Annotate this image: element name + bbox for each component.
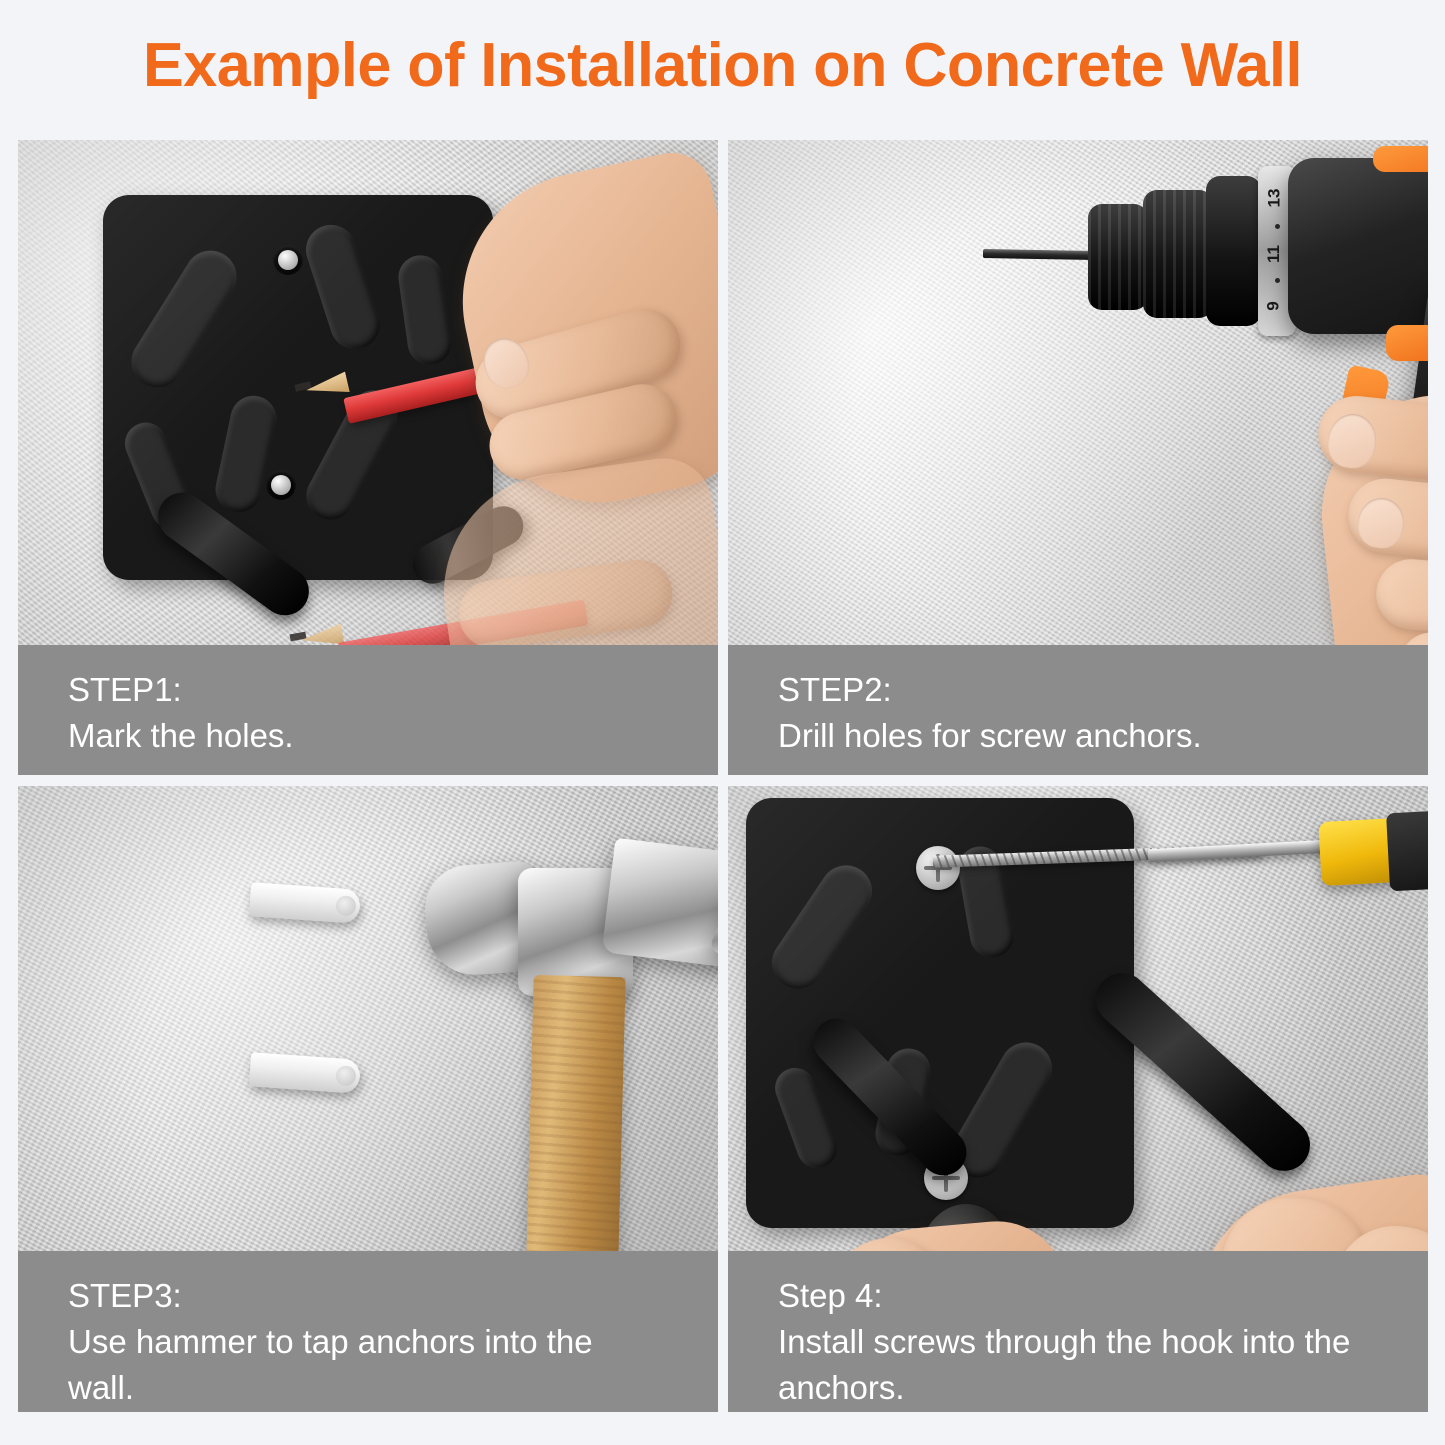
drill-chuck: [1088, 204, 1148, 310]
clutch-number-11: 11: [1264, 245, 1284, 263]
step-panel-3: STEP3: Use hammer to tap anchors into th…: [18, 786, 718, 1412]
hole-marker: [278, 250, 298, 270]
steps-grid: STEP1: Mark the holes. 13 11: [18, 140, 1428, 1412]
step-label: STEP2:: [778, 667, 1428, 713]
chuck-ribs: [1088, 204, 1148, 310]
step-panel-2: 13 11 9 STEP2: Drill holes for scre: [728, 140, 1428, 775]
step-text: Install screws through the hook into the…: [778, 1319, 1368, 1411]
drill-body: [1288, 158, 1428, 334]
page-title: Example of Installation on Concrete Wall: [11, 30, 1434, 101]
screw-head-top: [916, 846, 960, 890]
drill-top-accent: [1373, 146, 1428, 172]
hook-bump: [122, 241, 247, 397]
drill-speed-button: [1386, 325, 1428, 361]
screwdriver-handle: [1386, 807, 1428, 892]
hook-bump: [762, 855, 882, 998]
step-label: STEP3:: [68, 1273, 718, 1319]
step-label: STEP1:: [68, 667, 718, 713]
step-caption-3: STEP3: Use hammer to tap anchors into th…: [18, 1251, 718, 1412]
mounting-hole-top: [273, 245, 303, 275]
step-text: Use hammer to tap anchors into the wall.: [68, 1319, 658, 1411]
mounting-hole-bottom: [266, 470, 296, 500]
step-caption-2: STEP2: Drill holes for screw anchors.: [728, 645, 1428, 775]
step-label: Step 4:: [778, 1273, 1428, 1319]
clutch-dot: [1275, 278, 1280, 283]
drill-collar: [1143, 190, 1213, 318]
installation-guide-page: Example of Installation on Concrete Wall: [0, 0, 1445, 1445]
hook-bump: [769, 1062, 842, 1173]
step-text: Drill holes for screw anchors.: [778, 713, 1368, 759]
hook-bump: [211, 392, 281, 517]
hole-marker: [271, 475, 291, 495]
step-text: Mark the holes.: [68, 713, 658, 759]
clutch-number-9: 9: [1264, 301, 1284, 310]
step-caption-1: STEP1: Mark the holes.: [18, 645, 718, 775]
hook-bump: [396, 252, 455, 367]
step-panel-4: Step 4: Install screws through the hook …: [728, 786, 1428, 1412]
step-panel-1: STEP1: Mark the holes.: [18, 140, 718, 775]
collar-ribs: [1143, 190, 1213, 318]
step-caption-4: Step 4: Install screws through the hook …: [728, 1251, 1428, 1412]
hook-bump: [299, 218, 386, 355]
clutch-number-13: 13: [1264, 189, 1284, 208]
clutch-dot: [1275, 224, 1280, 229]
drill-gearcase: [1206, 176, 1261, 326]
hammer-claw: [602, 838, 718, 973]
